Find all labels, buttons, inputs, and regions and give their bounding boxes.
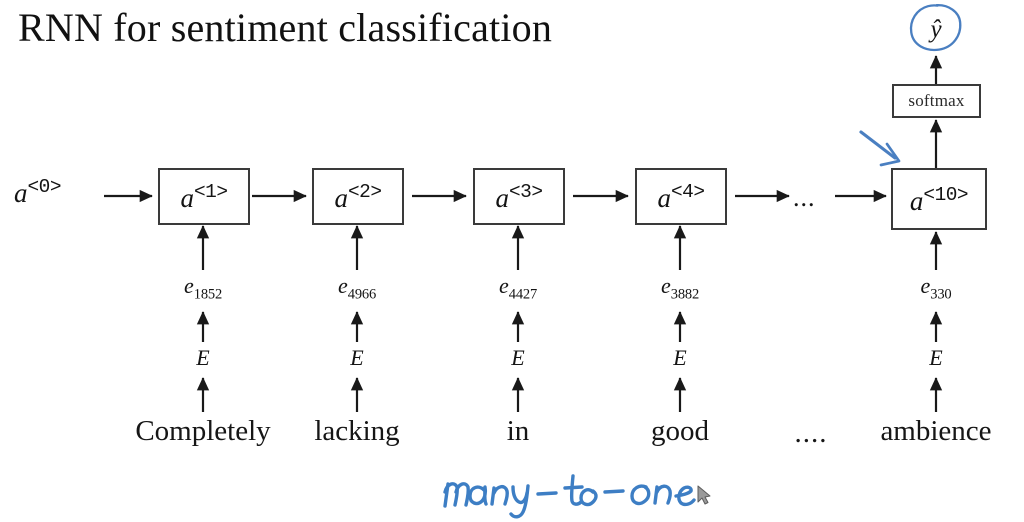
mouse-cursor-icon [698, 486, 710, 504]
yhat-output: ŷ [908, 2, 964, 54]
input-word-4: good [610, 415, 750, 448]
input-word-2: lacking [277, 415, 437, 448]
embedding-label-5: e330 [886, 273, 986, 299]
rnn-cell-3: a<3> [473, 168, 565, 225]
embedding-label-4: e3882 [630, 273, 730, 299]
softmax-box: softmax [892, 84, 981, 118]
input-sequence-ellipsis: .... [786, 417, 836, 450]
chain-ellipsis: ... [793, 183, 816, 213]
embedding-matrix-4: E [630, 345, 730, 371]
pointer-arrow-icon [861, 132, 899, 165]
rnn-cell-3-label: a<3> [496, 185, 543, 212]
rnn-cell-4-label: a<4> [658, 185, 705, 212]
softmax-label: softmax [908, 91, 964, 111]
initial-activation-base: a [14, 178, 28, 208]
initial-activation-label: a<0> [14, 178, 61, 209]
embedding-label-3: e4427 [468, 273, 568, 299]
rnn-cell-2-label: a<2> [335, 185, 382, 212]
slide-canvas: RNN for sentiment classification [0, 0, 1024, 522]
rnn-cell-1-label: a<1> [181, 185, 228, 212]
rnn-cell-10-label: a<10> [910, 188, 968, 215]
page-title: RNN for sentiment classification [18, 4, 552, 52]
handwritten-note-ink [445, 476, 694, 517]
embedding-matrix-2: E [307, 345, 407, 371]
yhat-label: ŷ [930, 17, 941, 42]
input-word-3: in [448, 415, 588, 448]
input-word-1: Completely [113, 415, 293, 448]
rnn-cell-10: a<10> [891, 168, 987, 230]
embedding-matrix-3: E [468, 345, 568, 371]
embedding-label-1: e1852 [153, 273, 253, 299]
embedding-matrix-5: E [886, 345, 986, 371]
embedding-label-2: e4966 [307, 273, 407, 299]
initial-activation-superscript: <0> [28, 176, 62, 198]
rnn-cell-1: a<1> [158, 168, 250, 225]
rnn-cell-4: a<4> [635, 168, 727, 225]
embedding-matrix-1: E [153, 345, 253, 371]
rnn-cell-2: a<2> [312, 168, 404, 225]
input-word-5: ambience [856, 415, 1016, 448]
